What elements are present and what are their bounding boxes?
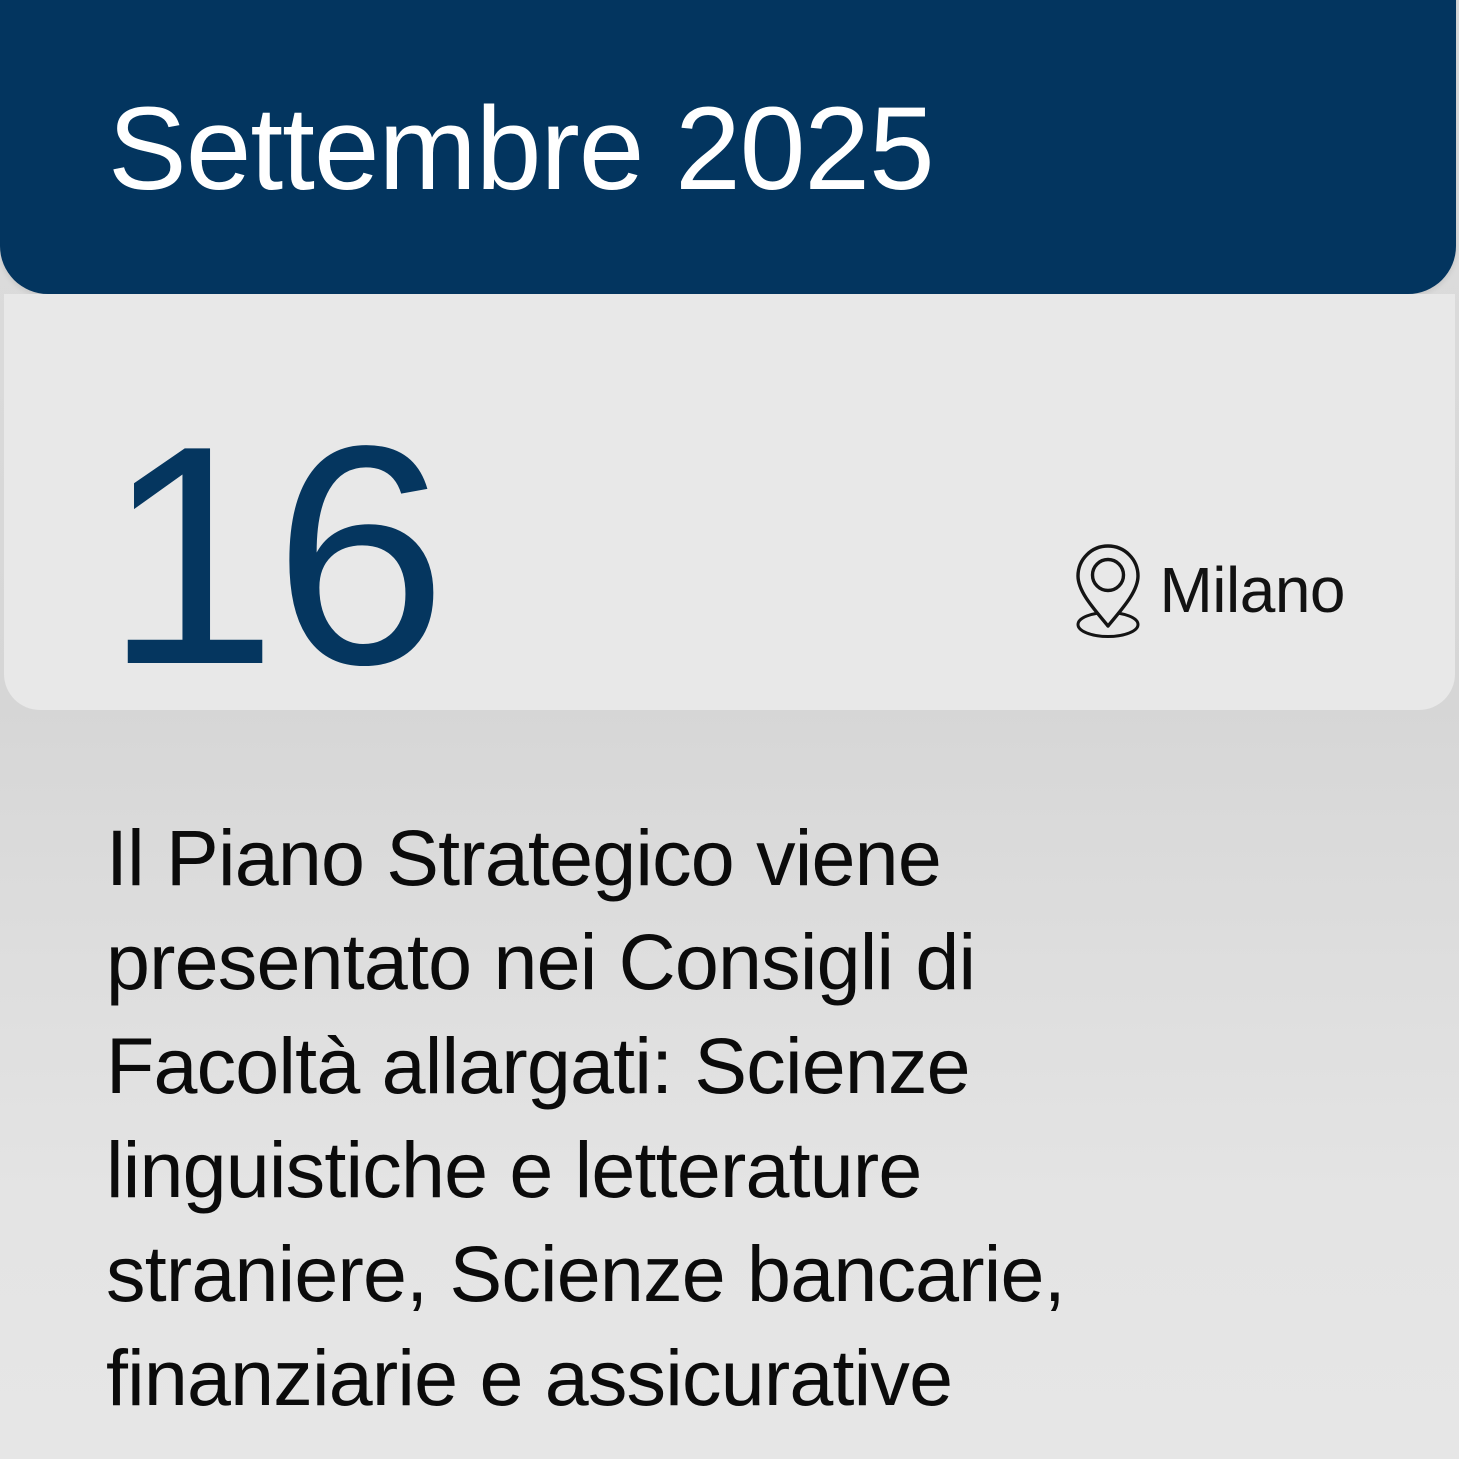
timeline-event-screen: Settembre 2025 16 Milano Il Piano Strate… [0, 0, 1459, 1459]
event-location: Milano [1071, 540, 1345, 640]
event-day-card[interactable]: 16 Milano [4, 294, 1455, 710]
month-banner: Settembre 2025 [0, 0, 1456, 294]
location-name: Milano [1159, 558, 1345, 622]
map-pin-icon [1071, 540, 1145, 640]
day-number: 16 [104, 400, 443, 712]
month-title: Settembre 2025 [108, 90, 934, 208]
event-description: Il Piano Strategico viene presentato nei… [106, 806, 1196, 1430]
